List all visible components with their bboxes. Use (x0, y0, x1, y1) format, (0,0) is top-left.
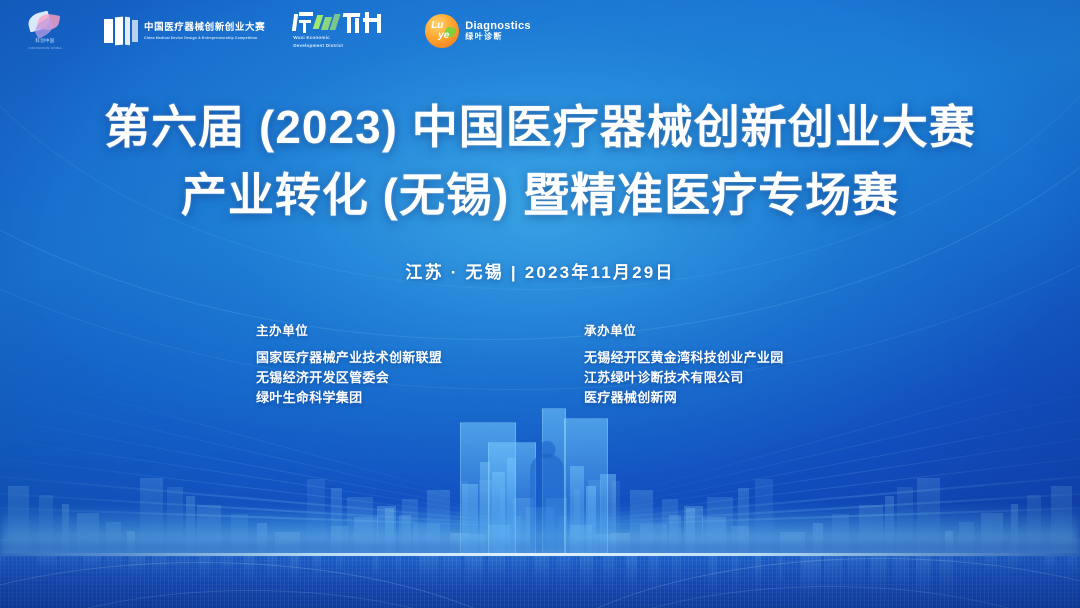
organizer-item: 无锡经开区黄金湾科技创业产业园 (584, 348, 824, 368)
reflection-foreground (0, 556, 1080, 608)
logo-innovation-china: 科创中国 INNOVATION CHINA (14, 12, 76, 50)
organizer-column-coorganizer: 承办单位 无锡经开区黄金湾科技创业产业园 江苏绿叶诊断技术有限公司 医疗器械创新… (584, 320, 824, 408)
wuxi-calligraphy-icon (293, 12, 397, 34)
organizers-section: 主办单位 国家医疗器械产业技术创新联盟 无锡经济开发区管委会 绿叶生命科学集团 … (0, 320, 1080, 408)
competition-name-en: China Medical Device Design & Entreprene… (144, 36, 265, 40)
luye-name-cn: 绿叶诊断 (465, 33, 531, 42)
logo-luye-diagnostics: Lu ye Diagnostics 绿叶诊断 (425, 14, 531, 48)
sponsor-logo-bar: 科创中国 INNOVATION CHINA 中国医疗器械创新创业大赛 China… (0, 0, 1080, 62)
logo-china-medical-device-competition: 中国医疗器械创新创业大赛 China Medical Device Design… (104, 17, 265, 45)
person-silhouette (530, 454, 564, 558)
butterfly-icon (26, 12, 64, 36)
organizer-column-host: 主办单位 国家医疗器械产业技术创新联盟 无锡经济开发区管委会 绿叶生命科学集团 (256, 320, 496, 408)
organizer-heading: 承办单位 (584, 320, 824, 339)
organizer-item: 国家医疗器械产业技术创新联盟 (256, 348, 496, 368)
page-title-line-2: 产业转化 (无锡) 暨精准医疗专场赛 (0, 172, 1080, 218)
luye-ball-icon: Lu ye (425, 14, 459, 48)
competition-name-cn: 中国医疗器械创新创业大赛 (144, 22, 265, 33)
organizer-heading: 主办单位 (256, 320, 496, 339)
open-book-icon (104, 17, 138, 45)
city-scene (0, 388, 1080, 608)
logo-wuxi-economic-development-district: Wuxi Economic Development District (293, 12, 397, 50)
wuxi-en-line2: Development District (293, 43, 343, 50)
organizer-item: 医疗器械创新网 (584, 388, 824, 408)
organizer-item: 绿叶生命科学集团 (256, 388, 496, 408)
gateway-structure (458, 406, 626, 558)
event-dateline: 江苏 · 无锡 | 2023年11月29日 (0, 258, 1080, 283)
luye-ball-ye: ye (438, 31, 449, 41)
page-title-line-1: 第六届 (2023) 中国医疗器械创新创业大赛 (0, 104, 1080, 150)
luye-name-en: Diagnostics (465, 20, 531, 32)
wuxi-en-line1: Wuxi Economic (293, 35, 330, 42)
logo-innovation-china-en: INNOVATION CHINA (28, 46, 61, 50)
event-poster: 科创中国 INNOVATION CHINA 中国医疗器械创新创业大赛 China… (0, 0, 1080, 608)
organizer-item: 无锡经济开发区管委会 (256, 368, 496, 388)
organizer-item: 江苏绿叶诊断技术有限公司 (584, 368, 824, 388)
